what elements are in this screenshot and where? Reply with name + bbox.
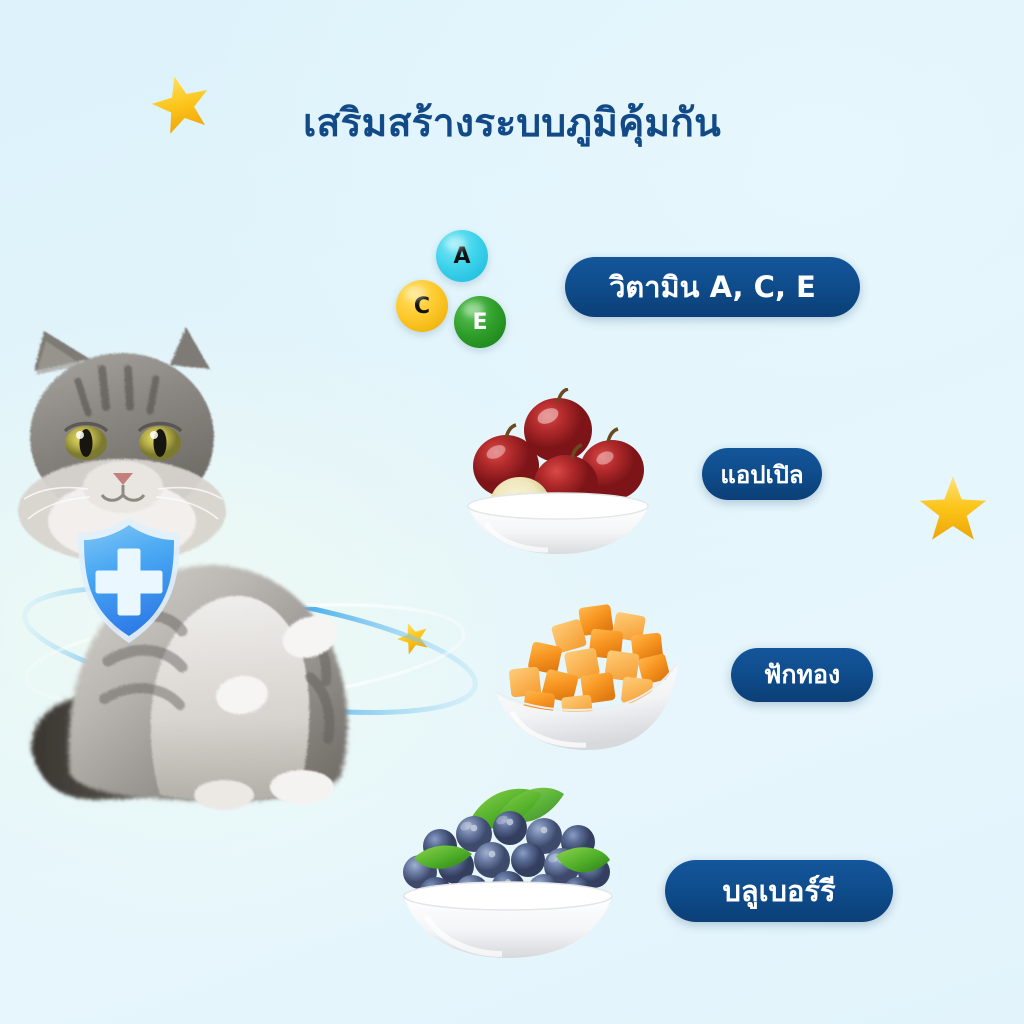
label-pill-blueberry: บลูเบอร์รี — [665, 860, 893, 922]
vitamin-bubbles-group: A C E — [396, 230, 526, 360]
star-right-large-icon — [917, 472, 989, 544]
apple-bowl-photo — [462, 388, 654, 556]
pumpkin-bowl-photo — [482, 600, 682, 752]
shield-plus-icon — [70, 515, 188, 645]
star-top-left-icon — [150, 72, 212, 134]
label-pill-pumpkin: ฟักทอง — [731, 648, 873, 702]
vitamin-a-label: A — [453, 244, 470, 269]
vitamin-c-bubble: C — [396, 280, 448, 332]
label-pill-apple: แอปเปิล — [702, 448, 822, 500]
vitamin-e-label: E — [472, 310, 487, 335]
vitamin-e-bubble: E — [454, 296, 506, 348]
vitamin-a-bubble: A — [436, 230, 488, 282]
vitamin-c-label: C — [414, 294, 430, 319]
poster-canvas: เสริมสร้างระบบภูมิคุ้มกัน — [0, 0, 1024, 1024]
label-pill-vitamins: วิตามิน A, C, E — [565, 257, 860, 317]
blueberry-bowl-photo — [392, 780, 624, 960]
